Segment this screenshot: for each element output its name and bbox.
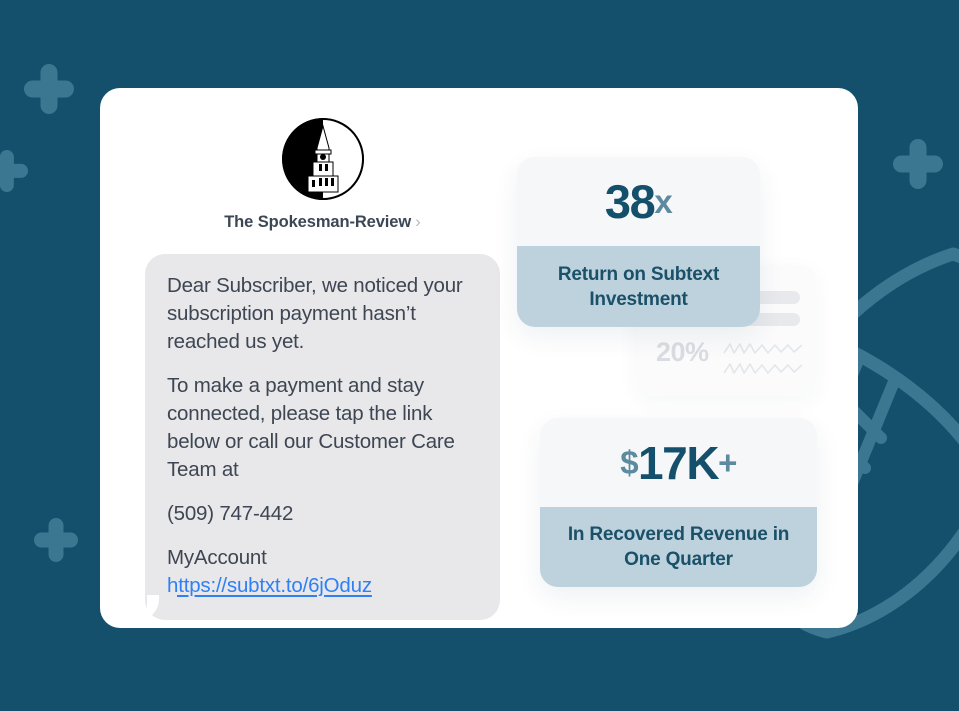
stat-value: $17K+: [540, 418, 817, 507]
plus-icon: [24, 64, 74, 114]
stat-card-roi: 38x Return on Subtext Investment: [517, 157, 760, 327]
sender-row[interactable]: The Spokesman-Review ›: [145, 213, 500, 232]
message-link[interactable]: https://subtxt.to/6jOduz: [167, 574, 372, 597]
stat-value-unit: +: [718, 446, 737, 479]
avatar: [282, 118, 364, 200]
message-preview: The Spokesman-Review › Dear Subscriber, …: [145, 118, 500, 620]
plus-icon: [893, 139, 943, 189]
message-paragraph: (509) 747-442: [167, 500, 478, 528]
plus-icon: [34, 518, 78, 562]
stat-label: In Recovered Revenue in One Quarter: [540, 507, 817, 587]
promo-graphic: The Spokesman-Review › Dear Subscriber, …: [0, 0, 959, 711]
squiggle-line-icon: [722, 341, 804, 357]
stat-value-number: 38: [605, 178, 654, 225]
plus-icon: [0, 150, 28, 192]
bubble-tail: [147, 595, 177, 621]
stat-card-revenue: $17K+ In Recovered Revenue in One Quarte…: [540, 418, 817, 587]
message-bubble-wrapper: Dear Subscriber, we noticed your subscri…: [145, 254, 500, 620]
message-bubble: Dear Subscriber, we noticed your subscri…: [145, 254, 500, 620]
ghost-percent-value: 20%: [656, 337, 709, 368]
message-paragraph: Dear Subscriber, we noticed your subscri…: [167, 272, 478, 356]
clock-tower-logo-icon: [282, 118, 364, 200]
squiggle-line-icon: [722, 361, 804, 377]
stat-value: 38x: [517, 157, 760, 246]
chevron-right-icon: ›: [415, 213, 421, 230]
stat-value-unit: x: [654, 185, 672, 218]
sender-name: The Spokesman-Review: [224, 213, 411, 232]
message-paragraph: To make a payment and stay connected, pl…: [167, 372, 478, 484]
stat-value-prefix: $: [620, 446, 638, 479]
stat-label: Return on Subtext Investment: [517, 246, 760, 327]
message-paragraph: MyAccount: [167, 544, 478, 572]
stat-value-number: 17K: [638, 440, 718, 486]
